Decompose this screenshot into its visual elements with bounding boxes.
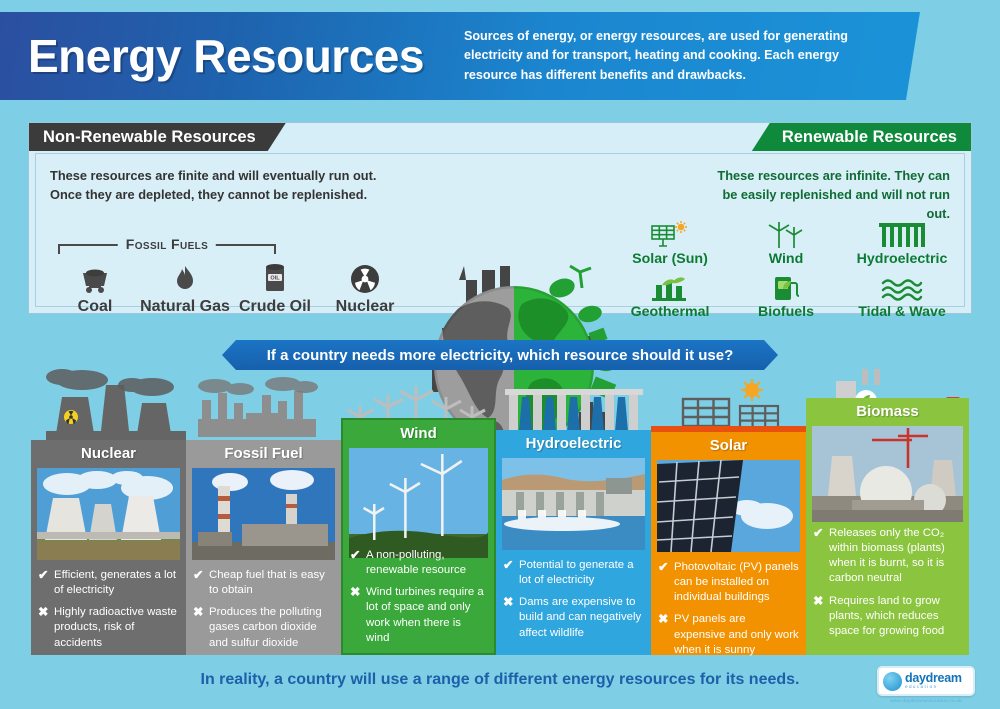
card-biomass-pro-text: Releases only the CO₂ within biomass (pl…	[829, 526, 962, 587]
non-renewable-description: These resources are finite and will even…	[50, 166, 380, 204]
fossil-fuels-bracket: Fossil Fuels	[58, 236, 276, 254]
geothermal-label: Geothermal	[618, 304, 722, 320]
card-solar-pro: ✔ Photovoltaic (PV) panels can be instal…	[658, 560, 799, 605]
card-fossil-fuel[interactable]: Fossil Fuel	[186, 440, 341, 655]
oil-barrel-icon: OIL	[230, 254, 320, 294]
card-solar[interactable]: Solar ✔ Photovoltaic (PV) p	[651, 426, 806, 655]
non-renewable-item-crude-oil: OIL Crude Oil	[230, 254, 320, 316]
crude-oil-label: Crude Oil	[230, 298, 320, 316]
fuel-pump-leaf-icon	[734, 269, 838, 303]
card-solar-photo	[657, 460, 800, 552]
tidal-wave-label: Tidal & Wave	[850, 304, 954, 320]
cross-icon: ✖	[38, 605, 54, 650]
logo-secondary-text: education	[905, 685, 962, 690]
renewable-item-biofuels: Biofuels	[734, 269, 838, 320]
gas-flame-icon	[140, 254, 230, 294]
fossil-chimneys-deco	[198, 391, 316, 437]
svg-text:OIL: OIL	[270, 276, 280, 282]
card-wind-pro: ✔ A non-polluting, renewable resource	[350, 548, 487, 578]
solar-label: Solar (Sun)	[618, 251, 722, 267]
non-renewable-tab: Non-Renewable Resources	[29, 123, 286, 151]
card-biomass-photo	[812, 426, 963, 518]
resource-cards: Nuclear ✔	[31, 440, 969, 655]
non-renewable-item-natural-gas: Natural Gas	[140, 254, 230, 316]
card-wind-photo	[349, 448, 488, 540]
coal-label: Coal	[50, 298, 140, 316]
renewable-description: These resources are infinite. They can b…	[700, 166, 950, 224]
resources-panel-inner: These resources are finite and will even…	[35, 153, 965, 307]
page-title: Energy Resources	[28, 33, 424, 79]
dam-icon	[850, 216, 954, 250]
card-fossil-fuel-body: ✔ Cheap fuel that is easy to obtain ✖ Pr…	[186, 560, 341, 664]
logo-primary-text: daydream	[905, 672, 962, 685]
tick-icon: ✔	[503, 558, 519, 588]
card-hydroelectric-body: ✔ Potential to generate a lot of electri…	[496, 550, 651, 655]
wind-turbine-icon	[734, 216, 838, 250]
card-biomass-pro: ✔ Releases only the CO₂ within biomass (…	[813, 526, 962, 587]
logo-mark-icon	[883, 672, 902, 691]
card-wind-body: ✔ A non-polluting, renewable resource ✖ …	[343, 540, 494, 659]
tick-icon: ✔	[38, 568, 54, 598]
cross-icon: ✖	[813, 594, 829, 639]
radiation-icon	[320, 254, 410, 294]
resources-panel: Non-Renewable Resources Renewable Resour…	[28, 122, 972, 314]
renewable-item-tidal-wave: Tidal & Wave	[850, 269, 954, 320]
renewable-item-geothermal: Geothermal	[618, 269, 722, 320]
non-renewable-item-nuclear: Nuclear	[320, 254, 410, 316]
renewable-tab-label: Renewable Resources	[782, 128, 957, 147]
non-renewable-tab-label: Non-Renewable Resources	[43, 128, 256, 147]
card-hydroelectric-pro-text: Potential to generate a lot of electrici…	[519, 558, 644, 588]
card-biomass-title: Biomass	[806, 398, 969, 426]
infographic-root: Energy Resources Sources of energy, or e…	[0, 0, 1000, 709]
card-fossil-fuel-pro-text: Cheap fuel that is easy to obtain	[209, 568, 334, 598]
non-renewable-item-coal: Coal	[50, 254, 140, 316]
card-biomass[interactable]: Biomass ✔	[806, 398, 969, 655]
tick-icon: ✔	[813, 526, 829, 587]
cross-icon: ✖	[193, 605, 209, 650]
card-biomass-con: ✖ Requires land to grow plants, which re…	[813, 594, 962, 639]
card-solar-pro-text: Photovoltaic (PV) panels can be installe…	[674, 560, 799, 605]
tick-icon: ✔	[350, 548, 366, 578]
wind-label: Wind	[734, 251, 838, 267]
card-nuclear-photo	[37, 468, 180, 560]
card-biomass-body: ✔ Releases only the CO₂ within biomass (…	[806, 518, 969, 655]
biofuels-label: Biofuels	[734, 304, 838, 320]
logo-url-text: www.daydreameducation.co.uk	[877, 699, 975, 704]
renewable-item-wind: Wind	[734, 216, 838, 267]
cross-icon: ✖	[503, 595, 519, 640]
card-hydroelectric-title: Hydroelectric	[496, 430, 651, 458]
card-fossil-fuel-con-text: Produces the polluting gases carbon diox…	[209, 605, 334, 650]
footer-text: In reality, a country will use a range o…	[0, 671, 1000, 689]
renewable-item-hydroelectric: Hydroelectric	[850, 216, 954, 267]
card-solar-con: ✖ PV panels are expensive and only work …	[658, 612, 799, 657]
card-hydroelectric-con-text: Dams are expensive to build and can nega…	[519, 595, 644, 640]
renewable-items: Solar (Sun) Wind	[618, 216, 954, 320]
card-biomass-con-text: Requires land to grow plants, which redu…	[829, 594, 962, 639]
waves-icon	[850, 269, 954, 303]
renewable-tab: Renewable Resources	[752, 123, 971, 151]
card-wind-con-text: Wind turbines require a lot of space and…	[366, 585, 487, 646]
geothermal-plant-icon	[618, 269, 722, 303]
nuclear-label: Nuclear	[320, 298, 410, 316]
cross-icon: ✖	[350, 585, 366, 646]
tick-icon: ✔	[658, 560, 674, 605]
non-renewable-items: Coal Natural Gas	[50, 254, 410, 316]
card-nuclear-con: ✖ Highly radioactive waste products, ris…	[38, 605, 179, 650]
hydroelectric-label: Hydroelectric	[850, 251, 954, 267]
card-wind-title: Wind	[343, 420, 494, 448]
card-hydroelectric-pro: ✔ Potential to generate a lot of electri…	[503, 558, 644, 588]
card-nuclear-pro-text: Efficient, generates a lot of electricit…	[54, 568, 179, 598]
coal-cart-icon	[50, 254, 140, 294]
header-subtitle: Sources of energy, or energy resources, …	[464, 27, 874, 86]
card-fossil-fuel-pro: ✔ Cheap fuel that is easy to obtain	[193, 568, 334, 598]
daydream-education-logo[interactable]: daydream education	[877, 666, 975, 696]
card-hydroelectric-con: ✖ Dams are expensive to build and can ne…	[503, 595, 644, 640]
solar-panel-sun-icon	[618, 216, 722, 250]
card-solar-con-text: PV panels are expensive and only work wh…	[674, 612, 799, 657]
cross-icon: ✖	[658, 612, 674, 657]
card-solar-title: Solar	[651, 432, 806, 460]
card-nuclear-title: Nuclear	[31, 440, 186, 468]
card-wind-pro-text: A non-polluting, renewable resource	[366, 548, 487, 578]
card-hydroelectric[interactable]: Hydroelectric	[496, 430, 651, 655]
card-nuclear-body: ✔ Efficient, generates a lot of electric…	[31, 560, 186, 664]
card-fossil-fuel-title: Fossil Fuel	[186, 440, 341, 468]
card-hydroelectric-photo	[502, 458, 645, 550]
fossil-fuels-label: Fossil Fuels	[118, 236, 216, 252]
card-solar-body: ✔ Photovoltaic (PV) panels can be instal…	[651, 552, 806, 671]
tick-icon: ✔	[193, 568, 209, 598]
header-banner: Energy Resources Sources of energy, or e…	[0, 12, 920, 100]
card-wind[interactable]: Wind ✔ A non-polluting, renewable reso	[341, 418, 496, 655]
card-fossil-fuel-photo	[192, 468, 335, 560]
card-fossil-fuel-con: ✖ Produces the polluting gases carbon di…	[193, 605, 334, 650]
renewable-item-solar: Solar (Sun)	[618, 216, 722, 267]
card-nuclear-pro: ✔ Efficient, generates a lot of electric…	[38, 568, 179, 598]
card-nuclear[interactable]: Nuclear ✔	[31, 440, 186, 655]
card-wind-con: ✖ Wind turbines require a lot of space a…	[350, 585, 487, 646]
natural-gas-label: Natural Gas	[140, 298, 230, 316]
card-nuclear-con-text: Highly radioactive waste products, risk …	[54, 605, 179, 650]
